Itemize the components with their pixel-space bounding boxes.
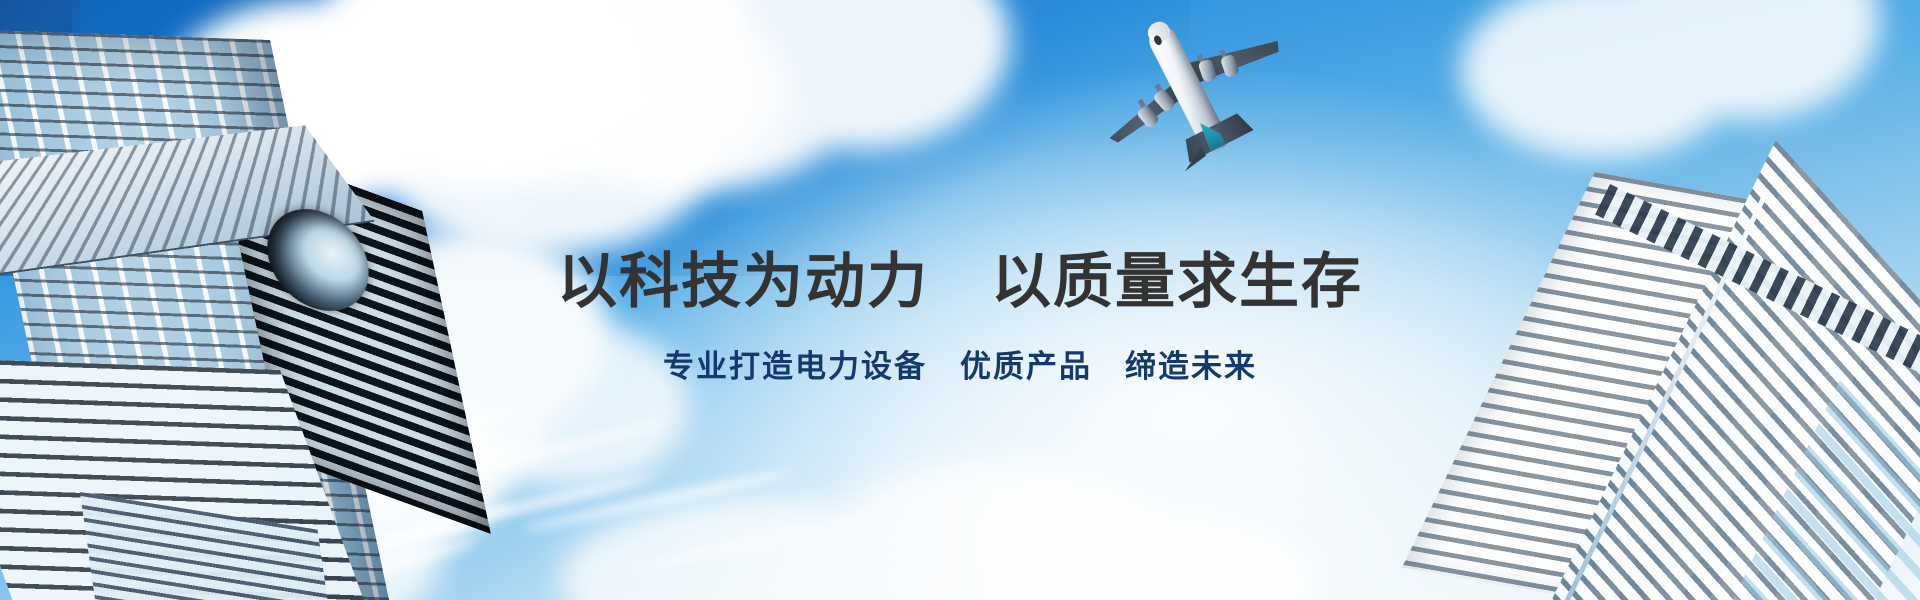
cloud-cumulus-top-center: [480, 0, 1100, 220]
hero-banner: 以科技为动力 以质量求生存 专业打造电力设备 优质产品 缔造未来: [0, 0, 1920, 600]
cloud-haze-bottom-center: [560, 430, 1320, 600]
banner-copy: 以科技为动力 以质量求生存 专业打造电力设备 优质产品 缔造未来: [0, 248, 1920, 386]
cloud-cumulus-upper-right: [1420, 0, 1920, 180]
banner-headline: 以科技为动力 以质量求生存: [0, 248, 1920, 315]
banner-subheadline: 专业打造电力设备 优质产品 缔造未来: [0, 341, 1920, 386]
